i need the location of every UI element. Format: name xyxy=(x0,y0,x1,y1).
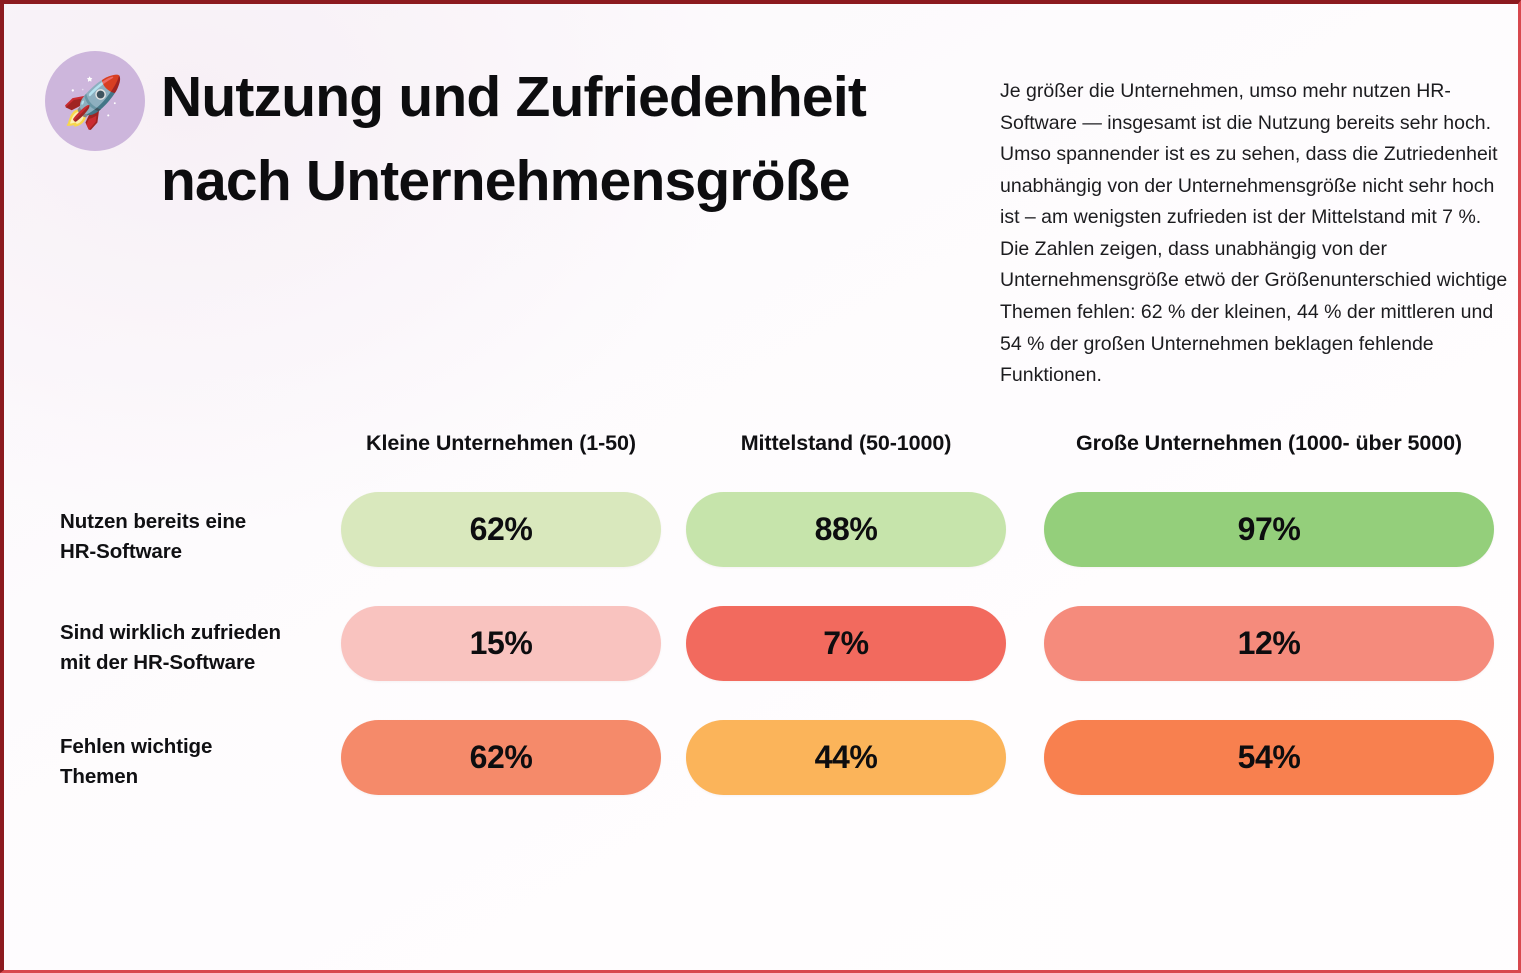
row-label-line-2: mit der HR-Software xyxy=(60,651,255,674)
row-label-zufrieden-hr-software: Sind wirklich zufrieden mit der HR-Softw… xyxy=(60,618,330,679)
comparison-matrix: Kleine Unternehmen (1-50) Mittelstand (5… xyxy=(4,4,1518,970)
value-pill: 97% xyxy=(1044,492,1494,567)
row-label-nutzen-hr-software: Nutzen bereits eine HR-Software xyxy=(60,507,330,568)
row-label-line-1: Nutzen bereits eine xyxy=(60,510,246,533)
column-header-grosse-unternehmen: Große Unternehmen (1000- über 5000) xyxy=(1044,431,1494,456)
row-label-line-2: HR-Software xyxy=(60,540,182,563)
row-label-fehlen-themen: Fehlen wichtige Themen xyxy=(60,732,330,793)
value-pill: 44% xyxy=(686,720,1006,795)
row-label-line-1: Fehlen wichtige xyxy=(60,735,212,758)
row-label-line-2: Themen xyxy=(60,765,138,788)
value-pill: 54% xyxy=(1044,720,1494,795)
value-pill: 7% xyxy=(686,606,1006,681)
column-header-mittelstand: Mittelstand (50-1000) xyxy=(686,431,1006,456)
value-pill: 62% xyxy=(341,492,661,567)
value-pill: 62% xyxy=(341,720,661,795)
infographic-canvas: 🚀 Nutzung und Zufriedenheit nach Unterne… xyxy=(0,0,1521,973)
row-label-line-1: Sind wirklich zufrieden xyxy=(60,621,281,644)
column-header-kleine-unternehmen: Kleine Unternehmen (1-50) xyxy=(341,431,661,456)
value-pill: 88% xyxy=(686,492,1006,567)
value-pill: 12% xyxy=(1044,606,1494,681)
value-pill: 15% xyxy=(341,606,661,681)
